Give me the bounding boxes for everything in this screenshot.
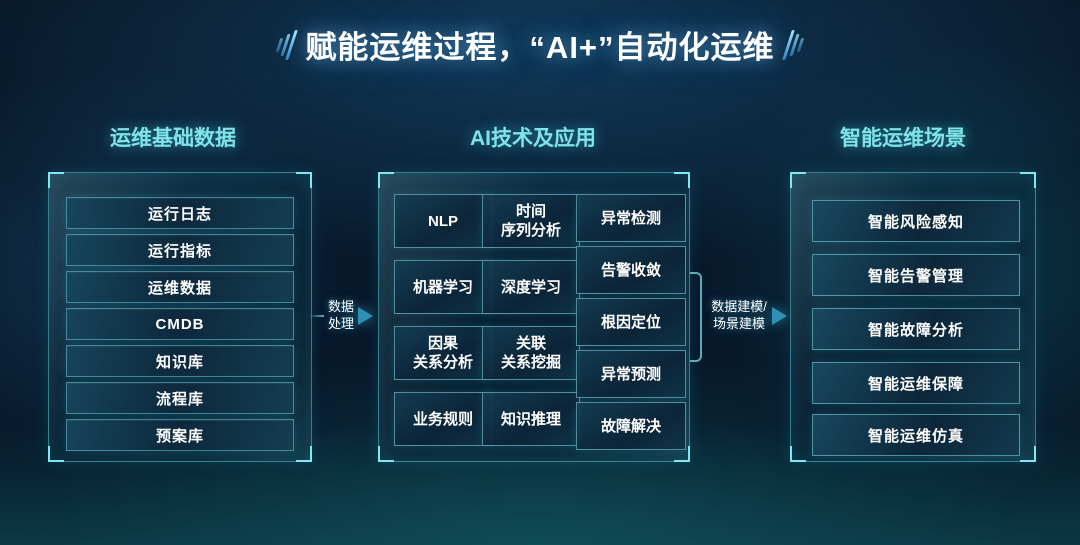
scenario-box[interactable]: 智能风险感知 <box>812 200 1020 242</box>
arrow-right-icon-2 <box>772 307 787 325</box>
tech-box[interactable]: 知识推理 <box>482 392 580 446</box>
list-item[interactable]: 运行日志 <box>66 197 294 229</box>
list-item[interactable]: 预案库 <box>66 419 294 451</box>
title-decoration-right-icon <box>787 30 802 60</box>
column-heading-middle: AI技术及应用 <box>470 122 596 152</box>
application-box[interactable]: 根因定位 <box>576 298 686 346</box>
column-heading-left: 运维基础数据 <box>110 122 236 152</box>
scenario-box[interactable]: 智能运维保障 <box>812 362 1020 404</box>
application-box-label: 异常检测 <box>601 209 661 228</box>
tech-box-label-line2: 关系分析 <box>413 353 473 372</box>
connector-label-line1: 数据建模/ <box>704 298 774 315</box>
tech-box[interactable]: NLP <box>394 194 492 248</box>
title-decoration-left-icon <box>278 30 293 60</box>
list-item[interactable]: 运行指标 <box>66 234 294 266</box>
tech-box-label-line1: 因果 <box>428 334 458 353</box>
application-box[interactable]: 异常检测 <box>576 194 686 242</box>
scenario-box[interactable]: 智能告警管理 <box>812 254 1020 296</box>
tech-box-label-line1: 关联 <box>516 334 546 353</box>
application-box[interactable]: 告警收敛 <box>576 246 686 294</box>
application-box[interactable]: 异常预测 <box>576 350 686 398</box>
tech-box-label: 知识推理 <box>501 410 561 429</box>
column-heading-right: 智能运维场景 <box>840 122 966 152</box>
tech-box-label-line2: 序列分析 <box>501 221 561 240</box>
list-item[interactable]: CMDB <box>66 308 294 340</box>
tech-box[interactable]: 因果 关系分析 <box>394 326 492 380</box>
tech-box-label: 深度学习 <box>501 278 561 297</box>
connector-bracket <box>690 272 702 362</box>
list-item[interactable]: 知识库 <box>66 345 294 377</box>
tech-box[interactable]: 深度学习 <box>482 260 580 314</box>
slide-title: 赋能运维过程，“AI+”自动化运维 <box>0 22 1080 67</box>
tech-box-label-line2: 关系挖掘 <box>501 353 561 372</box>
scenario-box[interactable]: 智能运维仿真 <box>812 414 1020 456</box>
tech-box-label-line1: 时间 <box>516 202 546 221</box>
connector-label-line2: 场景建模 <box>704 315 774 332</box>
application-box[interactable]: 故障解决 <box>576 402 686 450</box>
tech-box-label: NLP <box>428 212 458 231</box>
arrow-right-icon-1 <box>358 307 373 325</box>
application-box-label: 异常预测 <box>601 365 661 384</box>
tech-box-label: 业务规则 <box>413 410 473 429</box>
application-box-label: 故障解决 <box>601 417 661 436</box>
tech-box[interactable]: 关联 关系挖掘 <box>482 326 580 380</box>
connector-label-modeling: 数据建模/ 场景建模 <box>704 298 774 332</box>
list-item[interactable]: 运维数据 <box>66 271 294 303</box>
application-box-label: 告警收敛 <box>601 261 661 280</box>
tech-box[interactable]: 业务规则 <box>394 392 492 446</box>
tech-box-label: 机器学习 <box>413 278 473 297</box>
tech-box[interactable]: 机器学习 <box>394 260 492 314</box>
tech-box[interactable]: 时间 序列分析 <box>482 194 580 248</box>
application-box-label: 根因定位 <box>601 313 661 332</box>
scenario-box[interactable]: 智能故障分析 <box>812 308 1020 350</box>
title-text: 赋能运维过程，“AI+”自动化运维 <box>305 22 774 67</box>
list-item[interactable]: 流程库 <box>66 382 294 414</box>
